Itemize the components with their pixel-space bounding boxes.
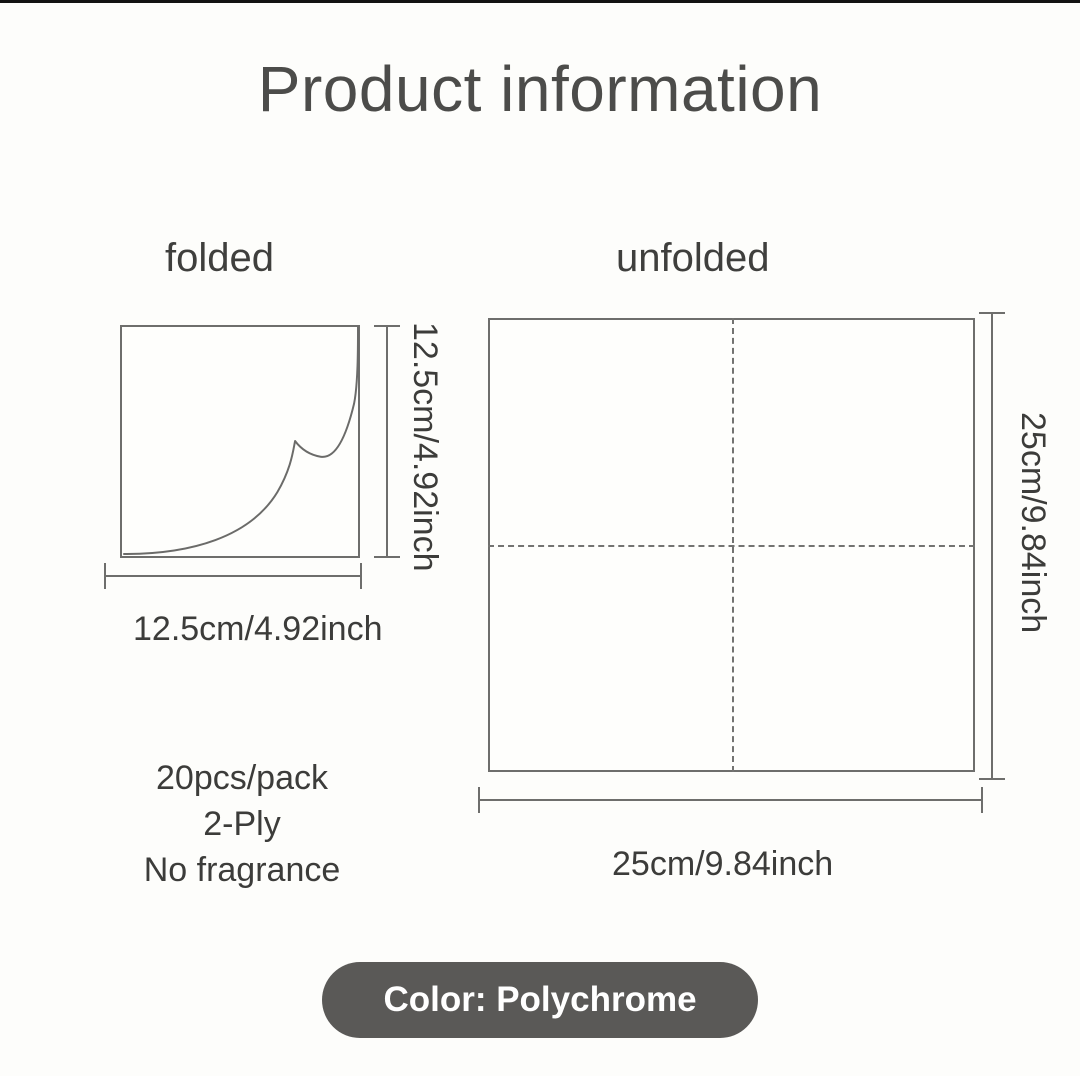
dimension-tick <box>979 778 1005 780</box>
horizontal-fold-line <box>488 545 975 547</box>
unfolded-width-label: 25cm/9.84inch <box>612 845 833 884</box>
vertical-fold-line <box>732 318 734 772</box>
dimension-tick <box>374 325 400 327</box>
folded-napkin-diagram <box>120 325 360 558</box>
folded-width-dimension-line <box>104 575 362 577</box>
unfolded-napkin-diagram <box>488 318 975 772</box>
spec-quantity: 20pcs/pack <box>0 755 484 801</box>
spec-ply: 2-Ply <box>0 801 484 847</box>
dimension-tick <box>979 312 1005 314</box>
folded-height-dimension-line <box>386 325 388 558</box>
color-badge[interactable]: Color: Polychrome <box>322 962 758 1038</box>
folded-width-label: 12.5cm/4.92inch <box>133 610 383 649</box>
page-title: Product information <box>0 52 1080 126</box>
unfolded-width-dimension-line <box>478 799 983 801</box>
dimension-tick <box>374 556 400 558</box>
unfolded-height-dimension-line <box>991 312 993 780</box>
folded-napkin-fold-curve-icon <box>122 327 358 556</box>
product-information-page: Product information folded 12.5cm/4.92in… <box>0 0 1080 1076</box>
dimension-tick <box>981 787 983 813</box>
dimension-tick <box>104 563 106 589</box>
unfolded-height-label: 25cm/9.84inch <box>1013 412 1052 633</box>
top-edge-strip <box>0 0 1080 3</box>
folded-caption: folded <box>165 236 274 281</box>
folded-height-label: 12.5cm/4.92inch <box>405 322 444 572</box>
dimension-tick <box>360 563 362 589</box>
spec-fragrance: No fragrance <box>0 847 484 893</box>
unfolded-caption: unfolded <box>616 236 769 281</box>
spec-list: 20pcs/pack 2-Ply No fragrance <box>0 755 484 893</box>
